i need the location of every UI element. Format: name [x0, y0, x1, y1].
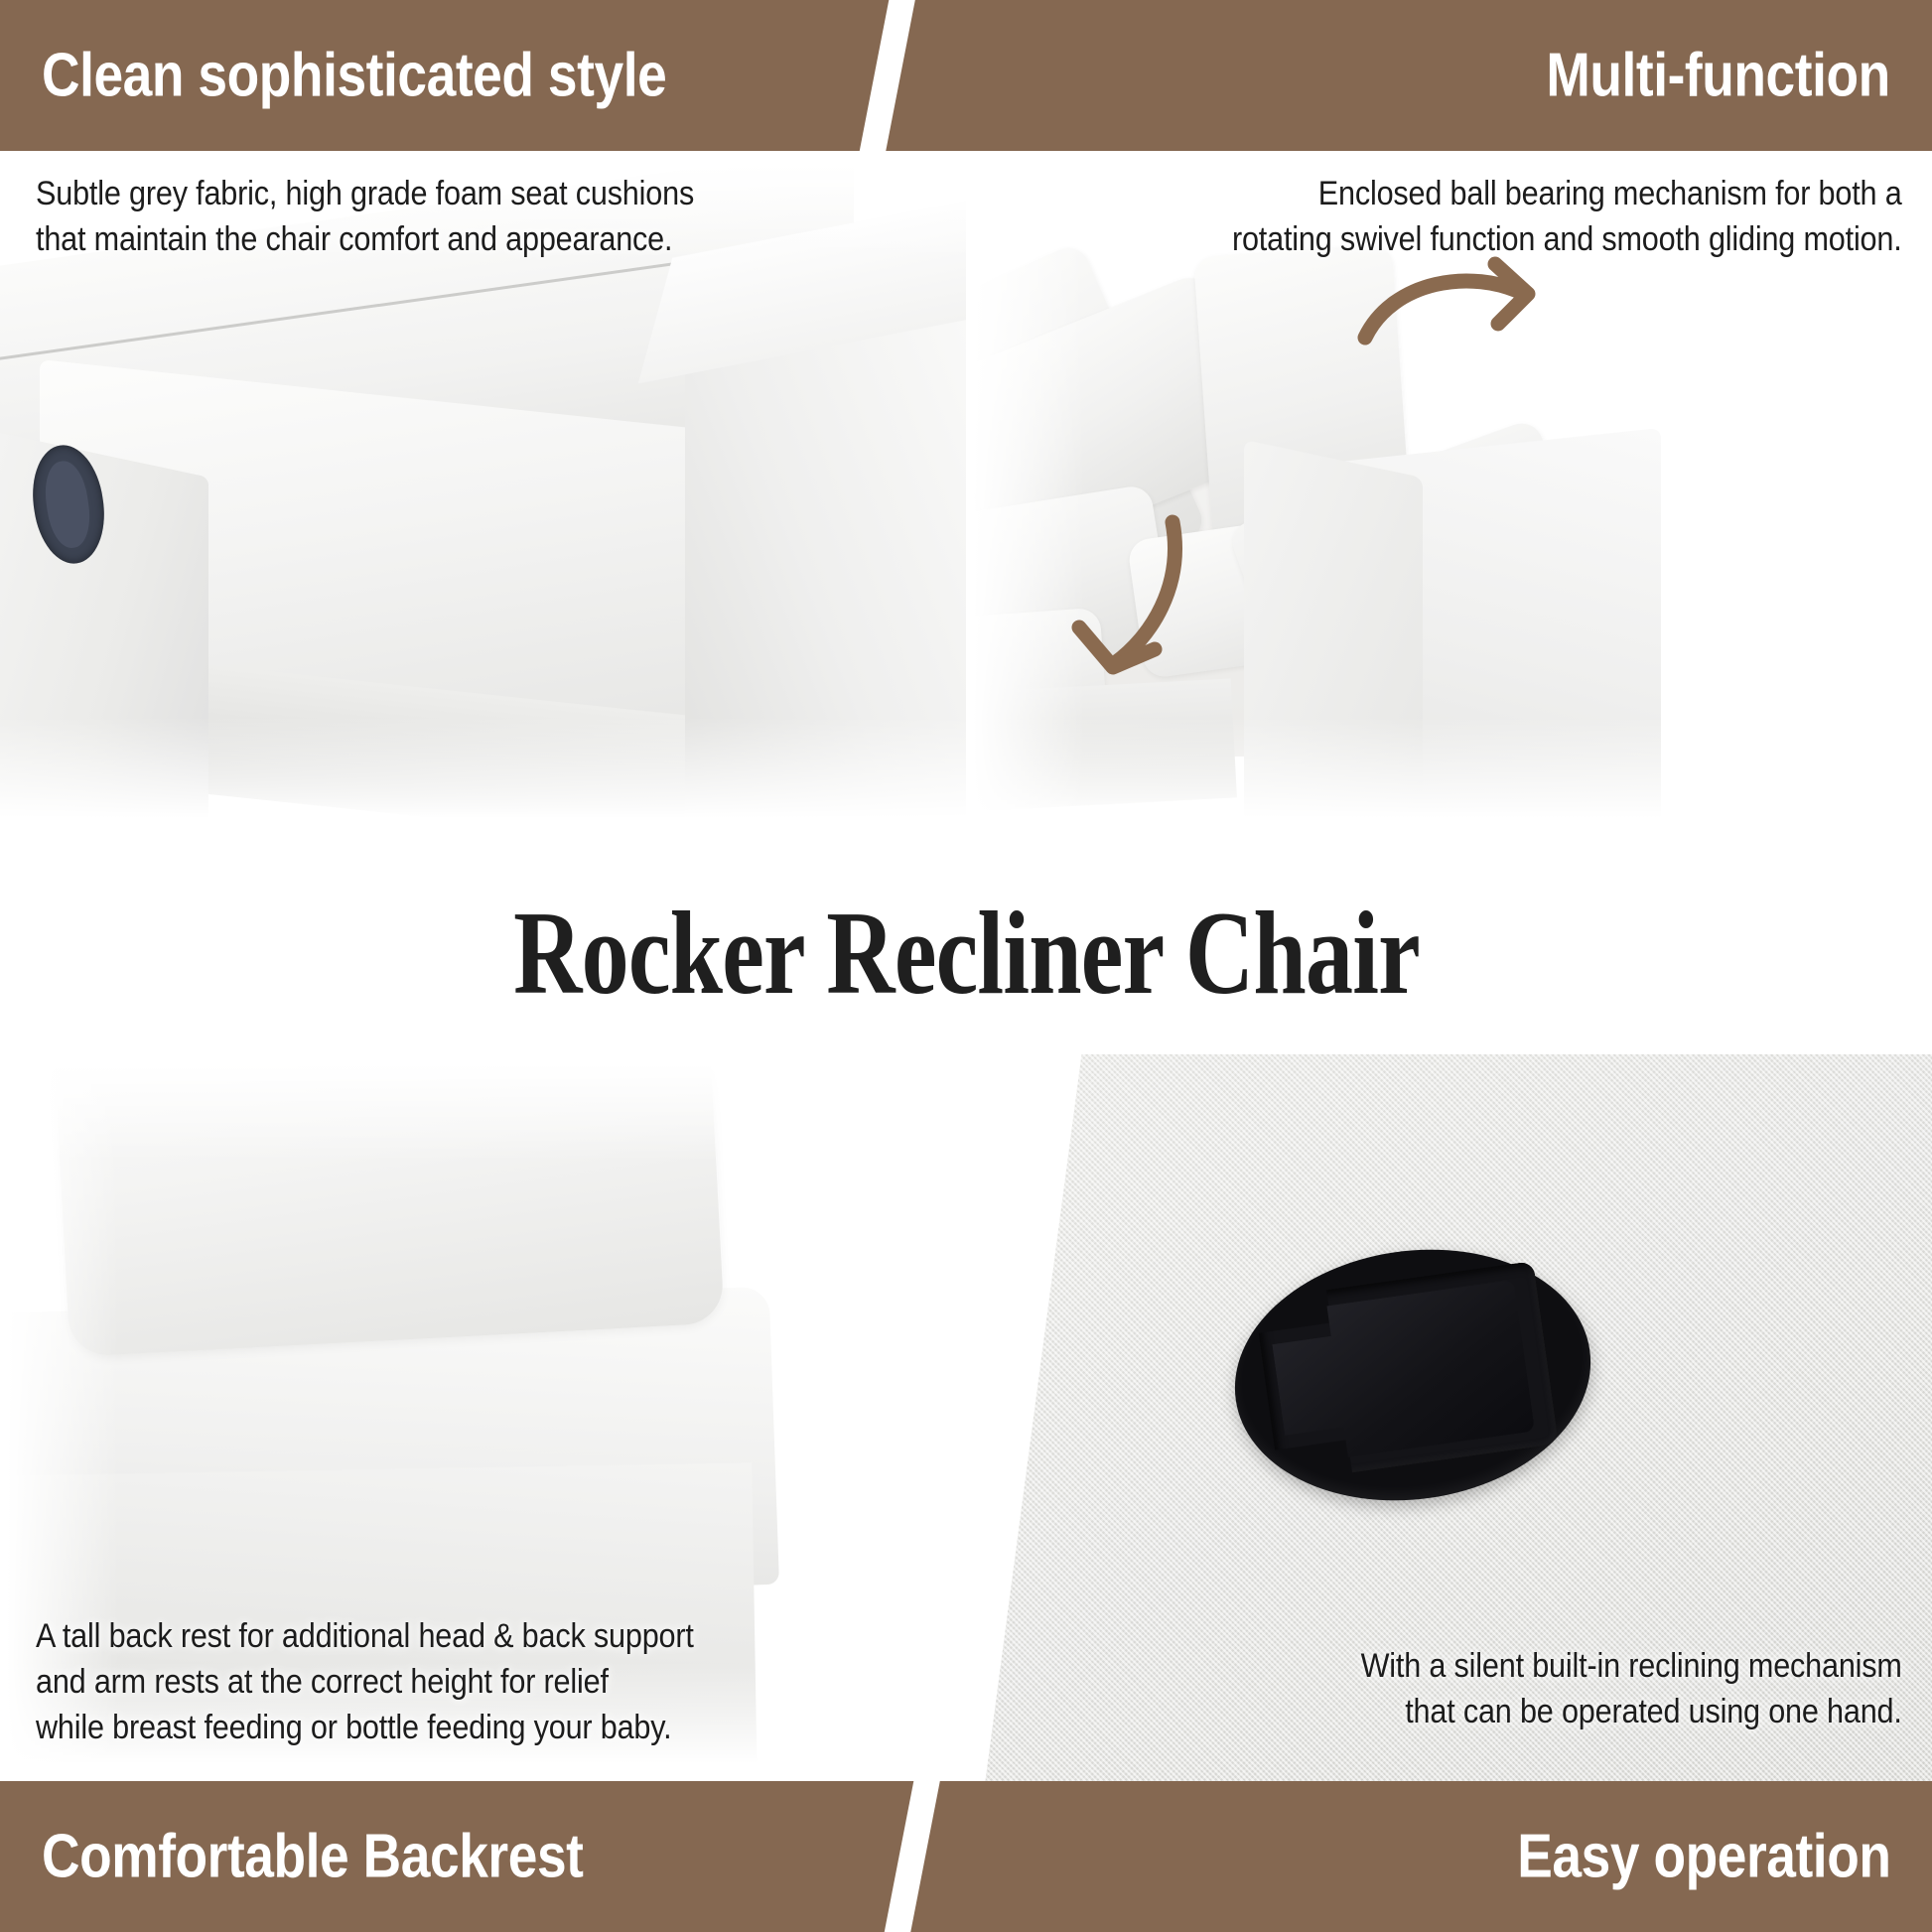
caption-line: Enclosed ball bearing mechanism for both… — [1232, 171, 1902, 216]
heading-comfortable-backrest: Comfortable Backrest — [42, 1822, 584, 1892]
panel-tr-left-fade — [966, 151, 1085, 836]
caption-line: A tall back rest for additional head & b… — [36, 1613, 694, 1659]
panel-tr-bottom-fade — [966, 717, 1932, 836]
top-header-bar: Clean sophisticated style Multi-function — [0, 0, 1932, 151]
caption-comfortable-backrest: A tall back rest for additional head & b… — [36, 1613, 766, 1751]
caption-line: Subtle grey fabric, high grade foam seat… — [36, 171, 694, 216]
heading-clean-sophisticated-style: Clean sophisticated style — [42, 41, 666, 111]
recliner-pull-handle-icon — [1218, 1227, 1606, 1523]
panel-tl-bottom-fade — [0, 717, 966, 836]
caption-line: while breast feeding or bottle feeding y… — [36, 1705, 694, 1750]
bottom-footer-bar: Comfortable Backrest Easy operation — [0, 1781, 1932, 1932]
product-title-text: Rocker Recliner Chair — [513, 894, 1420, 1013]
heading-easy-operation: Easy operation — [1517, 1822, 1890, 1892]
caption-line: that can be operated using one hand. — [1361, 1689, 1902, 1734]
glide-arrow-down-icon — [1055, 508, 1214, 697]
heading-multi-function: Multi-function — [1547, 41, 1890, 111]
caption-line: With a silent built-in reclining mechani… — [1361, 1643, 1902, 1689]
panel-bl-top-fade — [0, 1052, 966, 1162]
header-diagonal-divider — [851, 0, 921, 151]
caption-line: that maintain the chair comfort and appe… — [36, 216, 694, 262]
caption-easy-operation: With a silent built-in reclining mechani… — [1301, 1643, 1902, 1734]
caption-line: rotating swivel function and smooth glid… — [1232, 216, 1902, 262]
product-title: Rocker Recliner Chair — [0, 894, 1932, 1013]
caption-line: and arm rests at the correct height for … — [36, 1659, 694, 1705]
caption-clean-sophisticated-style: Subtle grey fabric, high grade foam seat… — [36, 171, 767, 262]
infographic-canvas: Clean sophisticated style Multi-function — [0, 0, 1932, 1932]
swivel-arrow-right-icon — [1353, 242, 1562, 371]
footer-diagonal-divider — [876, 1781, 946, 1932]
